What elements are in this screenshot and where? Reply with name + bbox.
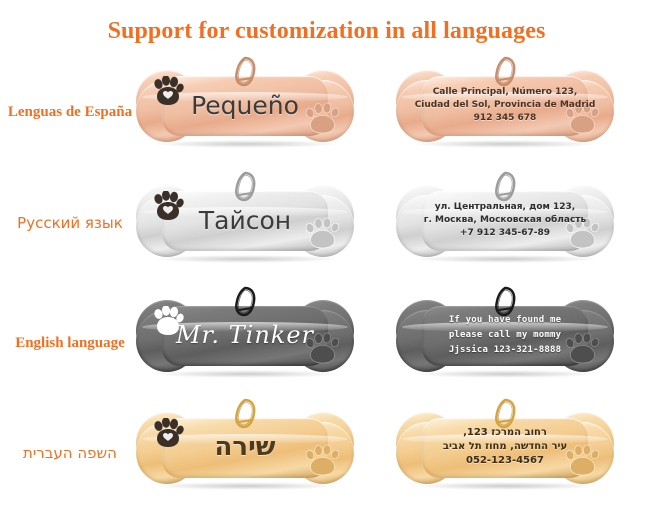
paw-print-icon xyxy=(152,191,184,221)
paw-cutout-icon xyxy=(564,444,602,476)
language-label: Русский язык xyxy=(0,214,140,232)
dog-tag-address[interactable]: Calle Principal, Número 123,Ciudad del S… xyxy=(396,62,614,148)
paw-cutout-icon xyxy=(304,332,342,364)
split-ring-icon xyxy=(492,286,518,320)
dog-tag-name[interactable]: Тайсон xyxy=(136,177,354,263)
tag-row: Lenguas de EspañaPequeñoCalle Principal,… xyxy=(0,62,653,176)
paw-cutout-icon xyxy=(304,102,342,134)
drop-shadow xyxy=(152,482,340,490)
split-ring-icon xyxy=(492,171,518,205)
drop-shadow xyxy=(152,255,340,263)
drop-shadow xyxy=(412,255,600,263)
paw-cutout-icon xyxy=(304,217,342,249)
tag-row: English languageMr. TinkerIf you have fo… xyxy=(0,292,653,406)
paw-print-icon xyxy=(152,306,184,336)
paw-cutout-icon xyxy=(564,102,602,134)
split-ring-icon xyxy=(232,398,258,432)
dog-tag-address[interactable]: רחוב המרכז 123,עיר החדשה, מחוז תל אביב05… xyxy=(396,404,614,490)
dog-tag-address[interactable]: If you have found meplease call my mommy… xyxy=(396,292,614,378)
split-ring-icon xyxy=(232,171,258,205)
split-ring-icon xyxy=(232,398,258,432)
paw-cutout-icon xyxy=(304,444,342,476)
paw-cutout-icon xyxy=(564,332,602,364)
page-title: Support for customization in all languag… xyxy=(0,18,653,45)
drop-shadow xyxy=(412,140,600,148)
paw-cutout-icon xyxy=(304,102,342,134)
split-ring-icon xyxy=(492,56,518,90)
paw-cutout-icon xyxy=(304,217,342,249)
paw-print-icon xyxy=(152,76,184,106)
paw-cutout-icon xyxy=(304,332,342,364)
language-label: English language xyxy=(0,335,140,352)
dog-tag-address[interactable]: ул. Центральная, дом 123,г. Москва, Моск… xyxy=(396,177,614,263)
drop-shadow xyxy=(412,482,600,490)
drop-shadow xyxy=(152,370,340,378)
paw-print-icon xyxy=(152,191,184,221)
split-ring-icon xyxy=(232,286,258,320)
paw-cutout-icon xyxy=(564,217,602,249)
paw-print-icon xyxy=(152,76,184,106)
language-label: השפה העברית xyxy=(0,444,140,462)
split-ring-icon xyxy=(492,398,518,432)
paw-cutout-icon xyxy=(564,102,602,134)
language-label: Lenguas de España xyxy=(0,104,140,121)
dog-tag-product-graphic: Support for customization in all languag… xyxy=(0,0,653,522)
paw-cutout-icon xyxy=(564,444,602,476)
split-ring-icon xyxy=(492,171,518,205)
split-ring-icon xyxy=(232,56,258,90)
dog-tag-name[interactable]: Pequeño xyxy=(136,62,354,148)
split-ring-icon xyxy=(232,286,258,320)
paw-print-icon xyxy=(152,418,184,448)
paw-cutout-icon xyxy=(304,444,342,476)
tag-row: השפה העבריתשירהרחוב המרכז 123,עיר החדשה,… xyxy=(0,404,653,518)
split-ring-icon xyxy=(492,56,518,90)
split-ring-icon xyxy=(492,398,518,432)
paw-cutout-icon xyxy=(564,217,602,249)
dog-tag-name[interactable]: Mr. Tinker xyxy=(136,292,354,378)
dog-tag-name[interactable]: שירה xyxy=(136,404,354,490)
split-ring-icon xyxy=(232,171,258,205)
paw-print-icon xyxy=(152,418,184,448)
paw-print-icon xyxy=(152,306,184,336)
drop-shadow xyxy=(412,370,600,378)
split-ring-icon xyxy=(492,286,518,320)
tag-row: Русский языкТайсонул. Центральная, дом 1… xyxy=(0,177,653,291)
split-ring-icon xyxy=(232,56,258,90)
drop-shadow xyxy=(152,140,340,148)
paw-cutout-icon xyxy=(564,332,602,364)
